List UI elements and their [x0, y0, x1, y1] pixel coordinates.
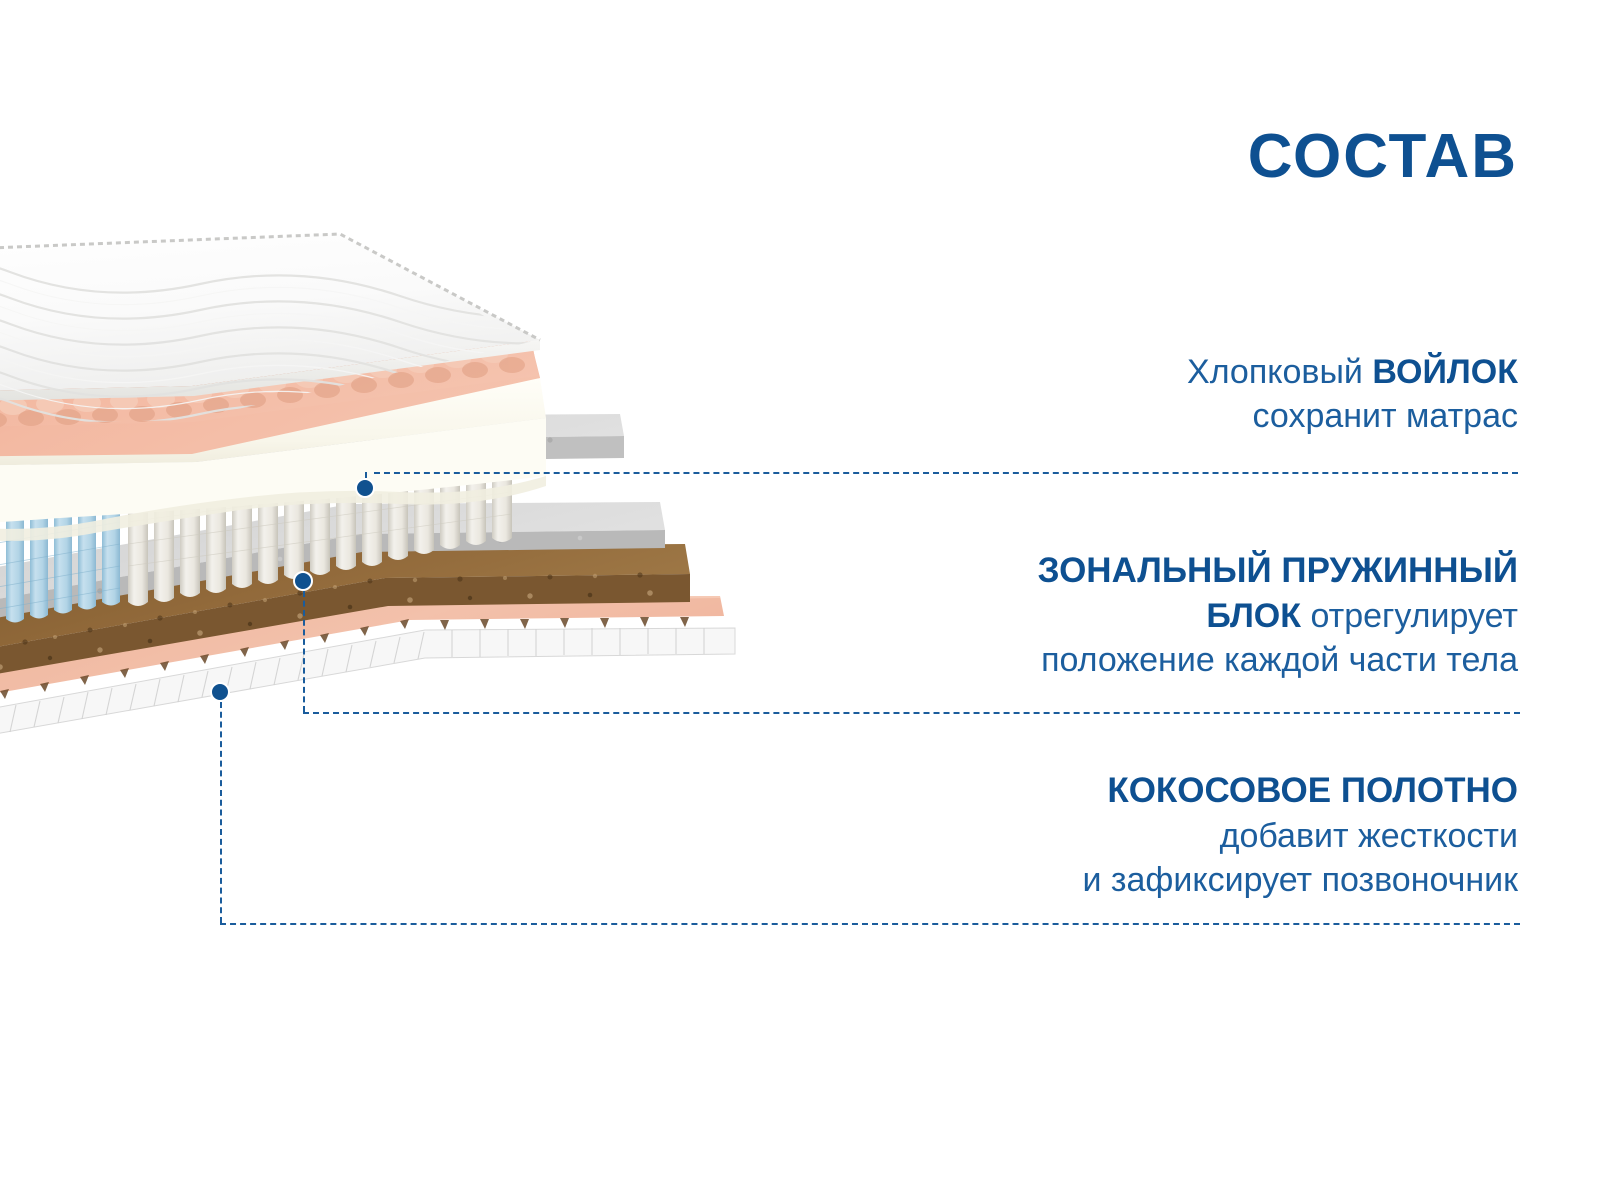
label-cotton-felt-line1-bold: ВОЙЛОК	[1372, 353, 1518, 391]
label-coconut-coir: КОКОСОВОЕ ПОЛОТНО добавит жесткости и за…	[1082, 768, 1518, 902]
connector-coir-stem	[220, 702, 222, 923]
label-cotton-felt-line1-regular: Хлопковый	[1187, 353, 1372, 391]
infographic-page: СОСТАВ	[0, 0, 1600, 1200]
label-coconut-coir-line3: и зафиксирует позвоночник	[1082, 858, 1518, 902]
label-spring-block-line2-regular: отрегулирует	[1301, 597, 1518, 635]
label-cotton-felt-line2: сохранит матрас	[1187, 394, 1518, 438]
connector-felt-line	[374, 472, 1518, 474]
label-coconut-coir-line1: КОКОСОВОЕ ПОЛОТНО	[1082, 768, 1518, 814]
label-spring-block-line3: положение каждой части тела	[1038, 638, 1518, 682]
connector-spring-stem	[303, 591, 305, 712]
mattress-cross-section-image	[0, 230, 840, 810]
connector-coir-line	[220, 923, 1520, 925]
label-spring-block-line2-bold: БЛОК	[1206, 597, 1301, 635]
label-spring-block-line2: БЛОК отрегулирует	[1038, 594, 1518, 638]
label-cotton-felt: Хлопковый ВОЙЛОК сохранит матрас	[1187, 350, 1518, 438]
connector-coir-dot	[210, 682, 230, 702]
label-cotton-felt-line1: Хлопковый ВОЙЛОК	[1187, 350, 1518, 394]
label-spring-block: ЗОНАЛЬНЫЙ ПРУЖИННЫЙ БЛОК отрегулирует по…	[1038, 548, 1518, 682]
label-spring-block-line1: ЗОНАЛЬНЫЙ ПРУЖИННЫЙ	[1038, 548, 1518, 594]
connector-spring-line	[303, 712, 1520, 714]
page-title: СОСТАВ	[1248, 126, 1518, 188]
connector-spring-dot	[293, 571, 313, 591]
label-coconut-coir-line2: добавит жесткости	[1082, 814, 1518, 858]
connector-felt-dot	[355, 478, 375, 498]
